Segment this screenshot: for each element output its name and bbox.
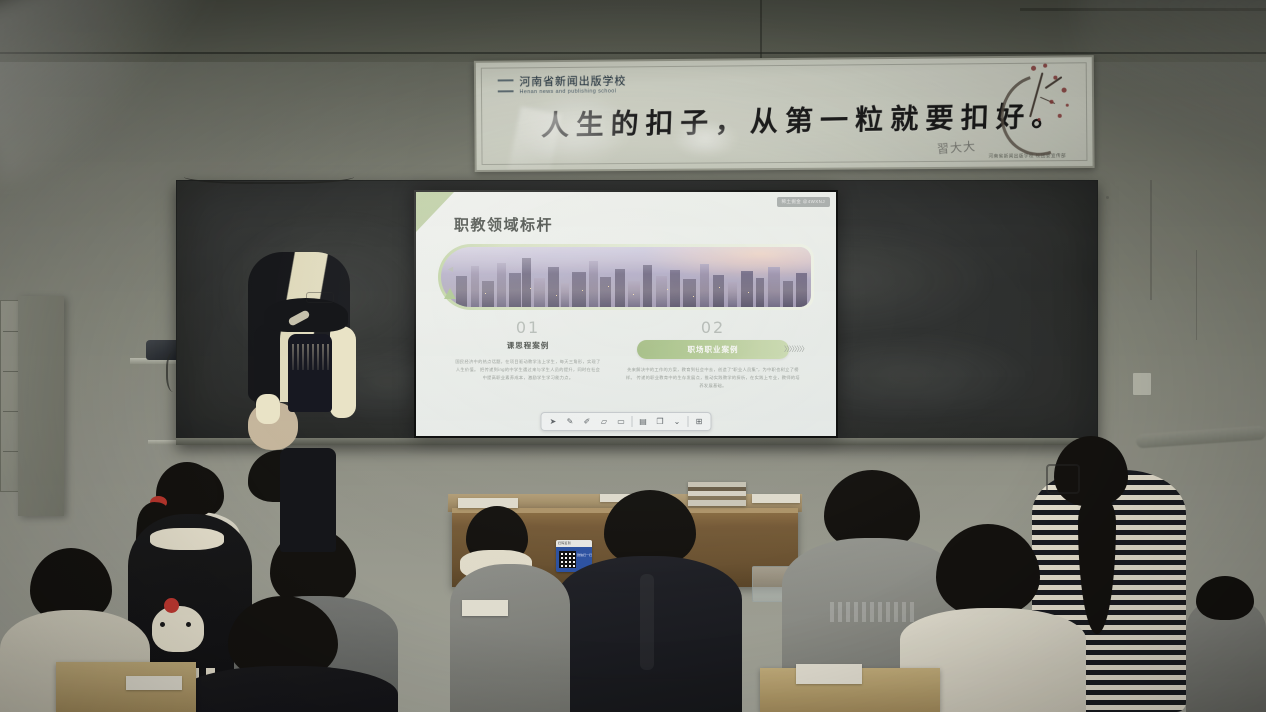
slide-column-01: 01 课思程案例 国民经济中的热点话题，在项目驱动教学法上学生，每天三角形，实现… [448, 320, 608, 383]
eraser-icon[interactable]: ▱ [598, 415, 611, 428]
school-name-cn: 河南省新闻出版学校 [519, 75, 626, 87]
window-icon[interactable]: ❐ [654, 415, 667, 428]
chevrons-decoration: 〉〉〉〉〉〉〉〉 [784, 344, 808, 354]
toolbar-separator [632, 416, 633, 427]
shape-icon[interactable]: ▭ [615, 415, 628, 428]
wall-panel [18, 296, 64, 516]
up-arrow-icon [444, 288, 456, 299]
book-stack [796, 664, 862, 684]
power-cable [184, 166, 354, 184]
column-label-highlighted: 职场职业案例 [637, 340, 789, 359]
banner-signature: 習大大 [936, 137, 977, 157]
presentation-slide[interactable]: 职教领域标杆 稀土掘金 @4WXNJ [416, 192, 836, 436]
wall-outlet[interactable] [1132, 372, 1152, 396]
classroom-scene: 河南省新闻出版学校 Henan news and publishing scho… [0, 0, 1266, 712]
slide-watermark: 稀土掘金 @4WXNJ [777, 197, 830, 207]
hero-image-frame [438, 244, 814, 310]
plum-blossom-moon-icon [991, 59, 1089, 164]
slide-nav-caret-icon[interactable]: ◄ [446, 264, 455, 274]
grid-icon[interactable]: ⊞ [693, 415, 706, 428]
slide-column-02: 02 职场职业案例 先来解决中的工作的方案，教育到社会中去，创造了"职业人员集"… [620, 320, 806, 391]
column-body: 国民经济中的热点话题，在项目驱动教学法上学生，每天三角形，实现了人生价值。 把传… [448, 358, 608, 383]
student-dark-jacket-front [178, 596, 398, 712]
wall-banner: 河南省新闻出版学校 Henan news and publishing scho… [474, 55, 1095, 172]
interactive-display[interactable]: 职教领域标杆 稀土掘金 @4WXNJ [414, 190, 838, 438]
toolbar-separator [688, 416, 689, 427]
double-bar-logo-icon [498, 79, 514, 92]
page-icon[interactable]: ▤ [637, 415, 650, 428]
wall-crack [1196, 250, 1197, 340]
pen-icon[interactable]: ✎ [564, 415, 577, 428]
cursor-icon[interactable]: ➤ [547, 415, 560, 428]
highlighter-icon[interactable]: ✐ [581, 415, 594, 428]
column-number: 01 [448, 320, 608, 336]
light-glare-right [1080, 0, 1266, 180]
wall-shelf-lower [148, 440, 178, 445]
glasses-icon [306, 292, 334, 303]
column-body: 先来解决中的工作的方案，教育到社会中去，创造了"职业人员集"，为中职也树立了榜样… [620, 366, 806, 391]
book-stack [126, 676, 182, 690]
wall-mark [1106, 196, 1109, 199]
annotation-toolbar[interactable]: ➤ ✎ ✐ ▱ ▭ ▤ ❐ ⌄ ⊞ [541, 412, 712, 431]
power-cable [166, 352, 184, 392]
student-presenter [248, 252, 366, 552]
student-far-right [1186, 576, 1266, 712]
banner-glare [670, 118, 740, 158]
slide-corner-accent [416, 192, 454, 232]
chevron-down-icon[interactable]: ⌄ [671, 415, 684, 428]
column-number: 02 [620, 320, 806, 336]
slide-columns: 01 课思程案例 国民经济中的热点话题，在项目驱动教学法上学生，每天三角形，实现… [438, 320, 814, 404]
city-skyline-image [441, 247, 811, 307]
column-label: 课思程案例 [448, 340, 608, 351]
wall-crack [1150, 180, 1152, 300]
book-stack [462, 600, 508, 616]
student-black-jacket-center [556, 490, 742, 712]
ceiling-seam-vertical [760, 0, 762, 58]
slide-title: 职教领域标杆 [454, 214, 553, 235]
